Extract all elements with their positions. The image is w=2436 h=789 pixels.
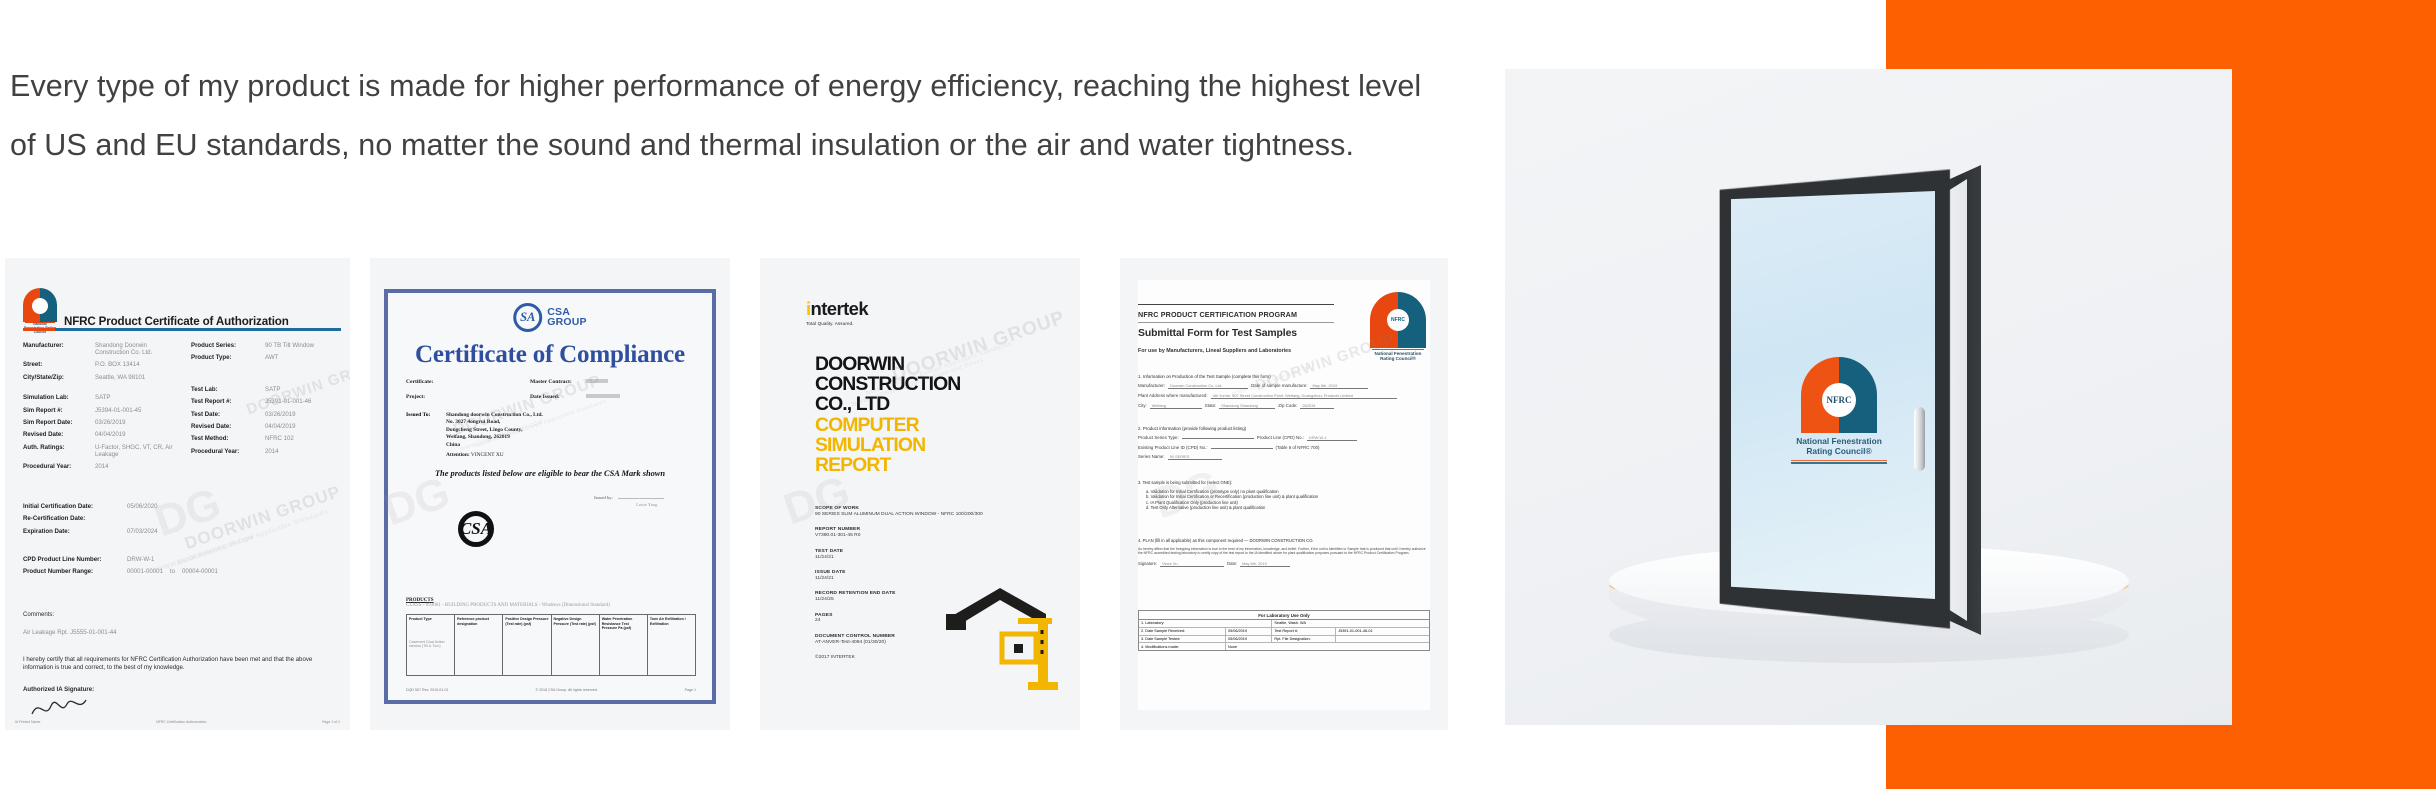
- field-row: Test Lab:SATP: [191, 386, 341, 393]
- field-row: Existing Product Line ID (CPD) No.: (Tab…: [1138, 445, 1430, 450]
- issued-to-address: Shandong doorwin Construction Co., Ltd. …: [446, 412, 543, 449]
- divider-top: [1138, 304, 1334, 305]
- table-row: 4. Modifications made:None: [1139, 643, 1429, 650]
- field-row: Product Series Type: Product Line (CPD) …: [1138, 435, 1430, 441]
- intertek-wordmark: iintertekntertek: [806, 298, 868, 320]
- divider-mid: [1138, 322, 1334, 323]
- nfrc-logo-icon: NFRC National Fenestration Rating Counci…: [1370, 292, 1426, 364]
- certificate-header: National Fenestration Rating Council NFR…: [23, 288, 289, 330]
- signature-label: Authorized IA Signature:: [23, 686, 94, 693]
- section-4: 4. PLAN (fill in all applicable) as this…: [1138, 538, 1430, 572]
- certificate-card-nfrc-authorization[interactable]: DG DOORWIN GROUP North America, Europe A…: [5, 258, 350, 730]
- nfrc-logo-icon: National Fenestration Rating Council: [23, 288, 57, 330]
- intertek-logo: iintertekntertek Total Quality. Assured.: [806, 298, 868, 326]
- laboratory-use-block: For Laboratory Use Only 1. Laboratory:Se…: [1138, 610, 1430, 651]
- field-row: Certificate: Master Contract:: [406, 379, 696, 385]
- issued-by: Issued by: Louie Yang: [594, 495, 664, 507]
- field-row: Revised Date:04/04/2019: [191, 423, 341, 430]
- certificate-card-intertek-report[interactable]: iintertekntertek Total Quality. Assured.…: [760, 258, 1080, 730]
- field-row: Sim Report Date:03/26/2019: [23, 419, 183, 426]
- comments-value: Air Leakage Rpt. J5555-01-001-44: [23, 629, 117, 636]
- certificate-card-csa-compliance[interactable]: SA CSA GROUP Certificate of Compliance C…: [370, 258, 730, 730]
- product-line-list: CPD Product Line Number:DRW-W-1 Product …: [23, 556, 313, 581]
- table-col: Product TypeCasement Dual Action window …: [407, 615, 455, 675]
- card-footer: DQD 507 Rev. 2019-01-01 © 2018 CSA Group…: [406, 688, 696, 692]
- field-row: Sim Report #:J5394-01-001-45: [23, 407, 183, 414]
- csa-logo: SA CSA GROUP: [513, 303, 587, 332]
- table-col: Water Penetration Resistance Test Pressu…: [600, 615, 648, 675]
- headline-line-1: Every type of my product is made for hig…: [10, 57, 1470, 116]
- table-row: 2. Date Sample Received:05/06/2019Test R…: [1139, 628, 1429, 636]
- field-row: City/State/Zip:Seattle, WA 98101: [23, 374, 183, 381]
- certificate-title: Certificate of Compliance: [388, 341, 712, 369]
- field-row: Series Name: 90 SERIES: [1138, 454, 1430, 460]
- field-row: Product Series:90 TB Tilt Window: [191, 342, 341, 349]
- nfrc-logo-text: NFRC: [1822, 383, 1856, 417]
- csa-certification-mark-icon: CSA: [458, 511, 494, 547]
- field-row: Revised Date:04/04/2019: [23, 431, 183, 438]
- crane-icon: [942, 574, 1066, 694]
- field-row: Re-Certification Date:: [23, 515, 223, 522]
- products-table: Product TypeCasement Dual Action window …: [406, 614, 696, 676]
- nfrc-glass-label: NFRC National Fenestration Rating Counci…: [1789, 357, 1889, 464]
- field-row: Signature: Vince Xu Date: May 6th, 2019: [1138, 561, 1430, 568]
- field-row: CPD Product Line Number:DRW-W-1: [23, 556, 313, 563]
- section-4-note: As hereby affirm that the foregoing info…: [1138, 547, 1430, 556]
- report-title: DOORWIN CONSTRUCTION CO., LTD COMPUTER S…: [815, 354, 960, 475]
- footer-center: © 2018 CSA Group. All rights reserved.: [535, 688, 597, 692]
- section-3: 3. Test sample is being submitted for (s…: [1138, 480, 1430, 511]
- certificate-border: SA CSA GROUP Certificate of Compliance C…: [384, 289, 716, 704]
- footer-right: Page 1 of 1: [322, 720, 340, 724]
- field-row: Expiration Date:07/03/2024: [23, 528, 223, 535]
- headline-copy: Every type of my product is made for hig…: [10, 57, 1470, 175]
- footer-center: NFRC Certification Authorization: [156, 720, 206, 724]
- csa-wordmark: CSA GROUP: [547, 308, 587, 327]
- attention-line: Attention: VINCENT XU: [446, 452, 504, 458]
- issued-to-label: Issued To:: [406, 412, 430, 418]
- field-row: Test Report #:J5391-01-001-46: [191, 398, 341, 405]
- csa-mark-icon: SA: [513, 303, 542, 332]
- headline-line-2: of US and EU standards, no matter the so…: [10, 116, 1470, 175]
- form-subtitle: For use by Manufacturers, Lineal Supplie…: [1138, 348, 1291, 355]
- field-row: Procedural Year:2014: [23, 463, 183, 470]
- field-row: Simulation Lab:SATP: [23, 394, 183, 401]
- casement-window-product: NFRC National Fenestration Rating Counci…: [1717, 165, 2037, 631]
- field-row: Plant Address where manufactured: 4th Yu…: [1138, 393, 1430, 399]
- left-field-list: Manufacturer:Shandong Doorwin Constructi…: [23, 342, 183, 476]
- field-row: Test Date:03/26/2019: [191, 411, 341, 418]
- table-col: Tone Air Exfiltration / Exfiltration: [648, 615, 695, 675]
- products-section: PRODUCTS CLASS - 093001 - BUILDING PRODU…: [406, 598, 610, 608]
- window-glass-pane: NFRC National Fenestration Rating Counci…: [1731, 191, 1935, 599]
- certificate-gallery: DG DOORWIN GROUP North America, Europe A…: [0, 258, 1460, 730]
- product-image-panel: NFRC National Fenestration Rating Counci…: [1505, 69, 2232, 725]
- right-field-list: Product Series:90 TB Tilt Window Product…: [191, 342, 341, 460]
- field-row: Manufacturer:Shandong Doorwin Constructi…: [23, 342, 183, 356]
- header-rule-blue: [55, 328, 341, 331]
- comments-label: Comments:: [23, 611, 54, 618]
- field-row: Initial Certification Date:05/06/2020: [23, 503, 223, 510]
- signature-mark: [29, 694, 89, 720]
- field-row: Product Number Range:00001-00001to00004-…: [23, 568, 313, 575]
- field-row: Manufacturer: Doorwin Construction Co. L…: [1138, 383, 1430, 389]
- field-row: Auth. Ratings:U-Factor, SHGC, VT, CR, Ai…: [23, 444, 183, 458]
- intertek-tagline: Total Quality. Assured.: [806, 321, 868, 326]
- field-row: Project: Date Issued:: [406, 394, 696, 400]
- form-title: Submittal Form for Test Samples: [1138, 328, 1297, 339]
- card-footer: IA Printed Name NFRC Certification Autho…: [15, 720, 340, 724]
- certificate-fields: Certificate: Master Contract: Project: D…: [406, 379, 696, 408]
- field-row: City: Weifang State: Shandong Shandong Z…: [1138, 403, 1430, 409]
- eligibility-statement: The products listed below are eligible t…: [388, 469, 712, 478]
- program-title: NFRC PRODUCT CERTIFICATION PROGRAM: [1138, 310, 1297, 319]
- field-row: Test Method:NFRC 102: [191, 435, 341, 442]
- footer-left: DQD 507 Rev. 2019-01-01: [406, 688, 448, 692]
- field-row: Product Type:AWT: [191, 354, 341, 361]
- table-col: Positive Design Pressure (Test rate) (ps…: [503, 615, 551, 675]
- certify-statement: I hereby certify that all requirements f…: [23, 656, 313, 672]
- table-col: Negative Design Pressure (Test rate) (ps…: [552, 615, 600, 675]
- footer-right: Page 1: [685, 688, 696, 692]
- laboratory-header: For Laboratory Use Only: [1139, 611, 1429, 620]
- section-2: 2. Product information (provide followin…: [1138, 426, 1430, 465]
- nfrc-logo-text: NFRC: [1387, 309, 1409, 331]
- window-handle[interactable]: [1914, 407, 1925, 471]
- table-row: 3. Date Sample Tested:05/06/2019Rpt. Fil…: [1139, 636, 1429, 644]
- footer-left: IA Printed Name: [15, 720, 40, 724]
- nfrc-caption: National Fenestration Rating Council®: [1789, 436, 1889, 457]
- header-rule-orange: [23, 328, 55, 331]
- field-row: Street:P.O. BOX 13414: [23, 361, 183, 368]
- table-col: Reference product designation: [455, 615, 503, 675]
- nfrc-logo-caption: National Fenestration Rating Council®: [1370, 351, 1426, 362]
- certificate-card-nfrc-submittal[interactable]: NFRC National Fenestration Rating Counci…: [1120, 258, 1448, 730]
- certification-date-list: Initial Certification Date:05/06/2020 Re…: [23, 503, 223, 540]
- option-d[interactable]: d. Test Only Alternative (production lin…: [1146, 505, 1430, 511]
- table-row: 1. Laboratory:Seattle, Wash. WA: [1139, 620, 1429, 628]
- field-row: Procedural Year:2014: [191, 448, 341, 455]
- section-1: 1. Information on Production of the Test…: [1138, 374, 1430, 414]
